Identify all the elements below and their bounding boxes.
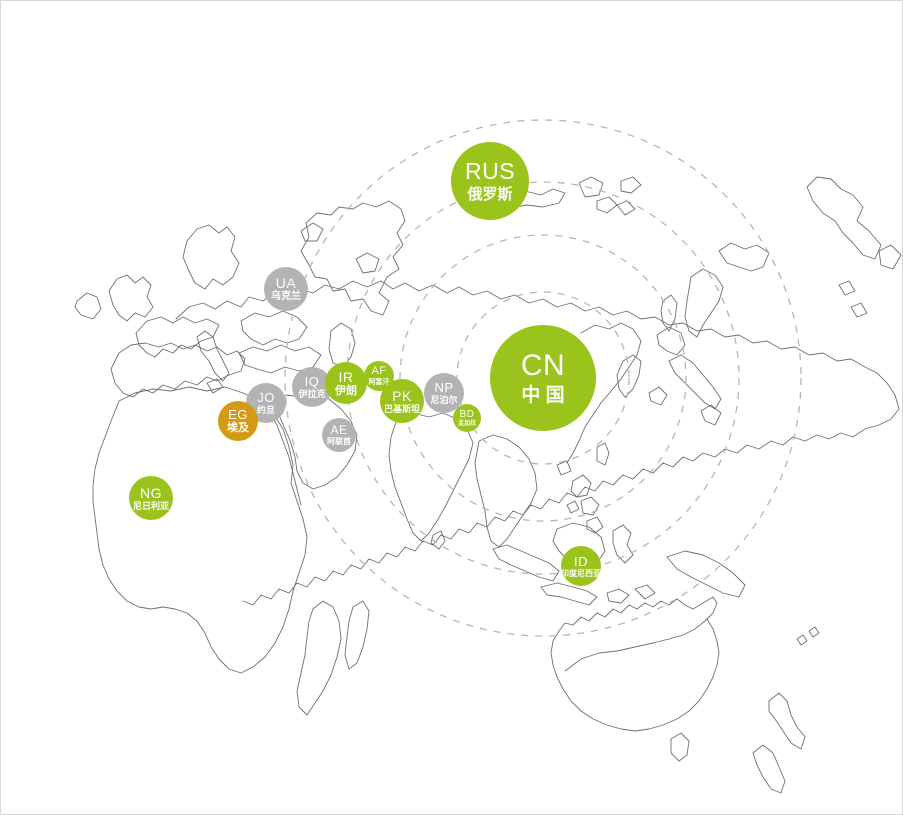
country-node-ua[interactable]: UA乌克兰	[264, 267, 308, 311]
country-name-pk: 巴基斯坦	[384, 405, 420, 414]
country-code-iq: IQ	[305, 375, 320, 388]
country-name-ir: 伊朗	[335, 386, 357, 397]
country-name-ua: 乌克兰	[271, 292, 301, 302]
country-code-af: AF	[371, 366, 386, 377]
country-code-ua: UA	[276, 276, 296, 290]
country-name-bd: 孟加拉	[458, 421, 476, 427]
country-code-ng: NG	[140, 486, 162, 500]
country-name-np: 尼泊尔	[430, 396, 457, 405]
country-node-id[interactable]: ID印度尼西亚	[561, 546, 601, 586]
country-node-rus[interactable]: RUS俄罗斯	[451, 142, 529, 220]
country-node-bd[interactable]: BD孟加拉	[453, 404, 481, 432]
country-nodes-layer: CN中 国RUS俄罗斯UA乌克兰IQ伊拉克JO约旦IR伊朗AF阿富汗PK巴基斯坦…	[1, 1, 903, 815]
country-node-cn[interactable]: CN中 国	[490, 325, 596, 431]
country-node-ng[interactable]: NG尼日利亚	[129, 476, 173, 520]
country-name-ng: 尼日利亚	[133, 502, 169, 511]
country-node-ir[interactable]: IR伊朗	[325, 362, 367, 404]
country-name-ae: 阿联酋	[327, 438, 351, 446]
country-code-ir: IR	[339, 370, 354, 384]
country-name-id: 印度尼西亚	[561, 570, 601, 578]
country-name-jo: 约旦	[257, 406, 275, 415]
country-code-id: ID	[574, 555, 588, 568]
country-name-cn: 中 国	[521, 386, 564, 405]
country-code-cn: CN	[521, 351, 565, 381]
country-node-pk[interactable]: PK巴基斯坦	[380, 379, 424, 423]
country-code-rus: RUS	[465, 160, 515, 183]
country-code-np: NP	[434, 381, 453, 394]
world-coverage-map: CN中 国RUS俄罗斯UA乌克兰IQ伊拉克JO约旦IR伊朗AF阿富汗PK巴基斯坦…	[0, 0, 903, 815]
country-code-pk: PK	[392, 389, 412, 403]
country-code-jo: JO	[257, 391, 275, 404]
country-node-eg[interactable]: EG埃及	[218, 401, 258, 441]
country-name-rus: 俄罗斯	[467, 187, 512, 202]
country-code-eg: EG	[228, 408, 248, 421]
country-name-eg: 埃及	[227, 423, 249, 434]
country-code-ae: AE	[330, 424, 347, 436]
country-name-iq: 伊拉克	[298, 390, 325, 399]
country-node-ae[interactable]: AE阿联酋	[322, 418, 356, 452]
country-code-bd: BD	[460, 410, 475, 420]
